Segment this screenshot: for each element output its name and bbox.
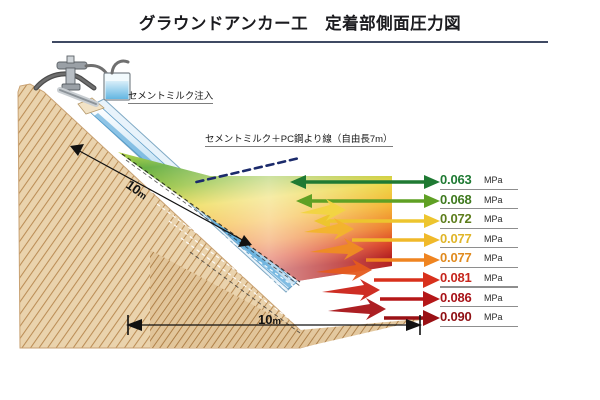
pressure-unit: MPa (484, 195, 503, 205)
annotation-injection: セメントミルク注入 (128, 88, 213, 104)
diagram-canvas: グラウンドアンカー工 定着部側面圧力図 (0, 0, 600, 400)
pressure-value: 0.077 (440, 250, 472, 265)
pressure-label-underline (440, 189, 518, 190)
pressure-unit: MPa (484, 234, 503, 244)
dimension-horizontal-value: 10 (258, 312, 272, 327)
pump-equipment (36, 56, 130, 104)
pressure-label-underline (440, 267, 518, 268)
dimension-horizontal-unit: m (272, 316, 280, 327)
pressure-arrow-7 (380, 291, 440, 307)
pressure-arrow-6 (374, 272, 440, 288)
pressure-unit: MPa (484, 253, 503, 263)
tank-icon (104, 61, 130, 100)
pressure-unit: MPa (484, 312, 503, 322)
pressure-unit: MPa (484, 273, 503, 283)
pressure-unit: MPa (484, 214, 503, 224)
dimension-label-horizontal: 10m (258, 312, 281, 327)
pressure-unit: MPa (484, 175, 503, 185)
pressure-value: 0.077 (440, 231, 472, 246)
diagram-illustration (0, 0, 600, 400)
pressure-label-underline (440, 306, 518, 307)
pressure-value: 0.090 (440, 309, 472, 324)
pressure-unit: MPa (484, 293, 503, 303)
pressure-label-underline (440, 208, 518, 209)
pressure-label-underline (440, 286, 518, 287)
pressure-value: 0.086 (440, 290, 472, 305)
annotation-tendon: セメントミルク＋PC鋼より線（自由長7m） (205, 131, 393, 147)
pressure-value: 0.063 (440, 172, 472, 187)
pressure-value: 0.072 (440, 211, 472, 226)
pressure-label-underline (440, 228, 518, 229)
pressure-value: 0.068 (440, 192, 472, 207)
pressure-label-underline (440, 247, 518, 248)
pressure-value: 0.081 (440, 270, 472, 285)
pressure-label-underline (440, 326, 518, 327)
